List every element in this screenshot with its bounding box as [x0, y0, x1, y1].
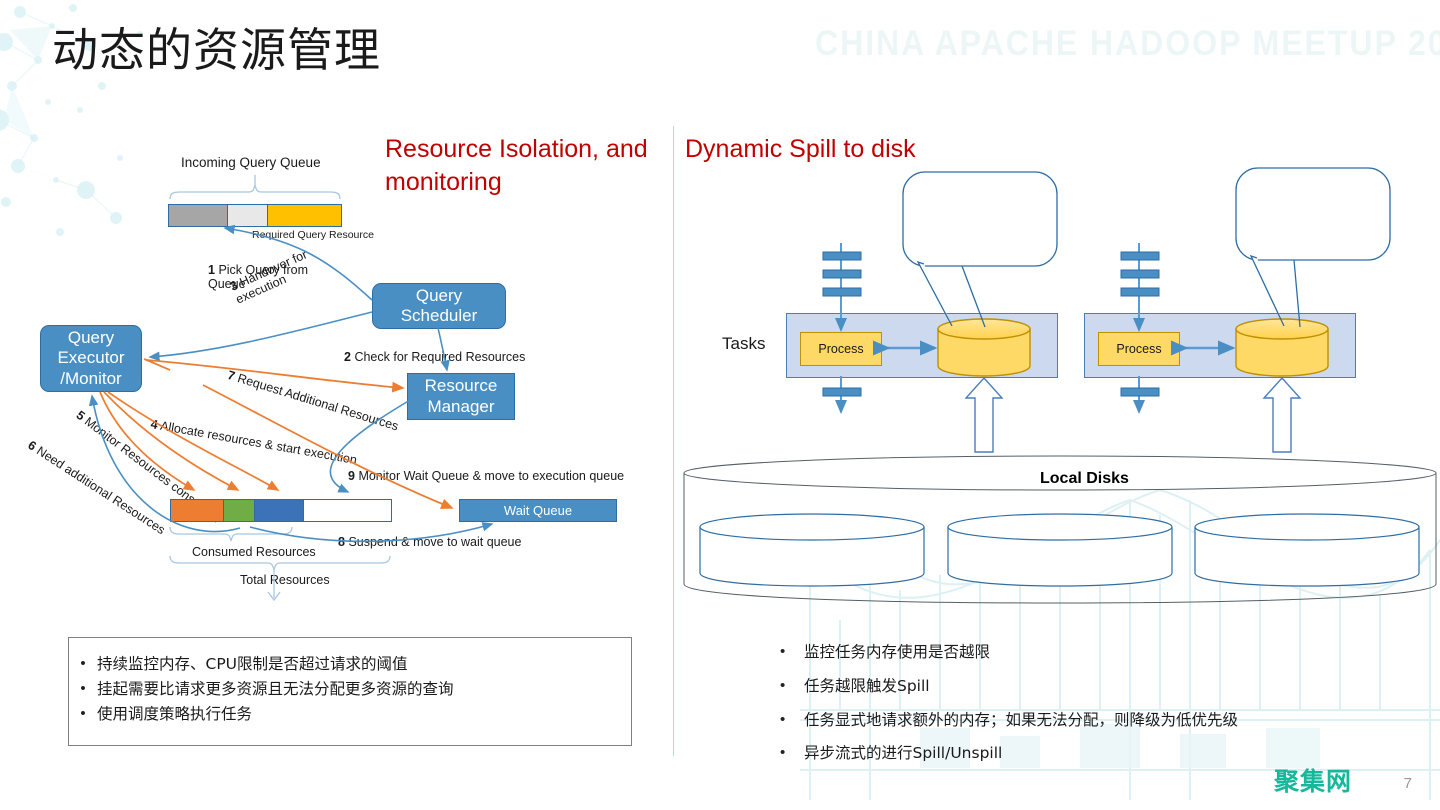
bullet-dot-icon: • [69, 677, 97, 701]
total-resources-label: Total Resources [240, 573, 330, 587]
bullet-dot-icon: • [69, 652, 97, 676]
node-query-scheduler-label: Query Scheduler [401, 286, 478, 326]
local-disk-3-page-spills-label: PageSpills [1211, 552, 1238, 579]
segment-res-green [224, 500, 255, 521]
node-resource-manager-label: Resource Manager [425, 376, 498, 416]
task-2-process-box[interactable]: Process [1098, 332, 1180, 366]
left-bullet-text: 使用调度策略执行任务 [97, 702, 252, 727]
task-1-process-box[interactable]: Process [800, 332, 882, 366]
local-disk-1-spill-blocks [771, 551, 905, 577]
segment-queued-a [169, 205, 228, 226]
segment-res-blue [255, 500, 304, 521]
step-9-number: 9 [348, 469, 355, 483]
step-4-label: 4 Allocate resources & start execution [150, 417, 358, 467]
right-bullet-text: 任务越限触发Spill [804, 674, 930, 699]
incoming-query-queue-bar [168, 204, 342, 227]
right-bullet-item: •监控任务内存使用是否越限 [780, 640, 1400, 665]
node-resource-manager[interactable]: Resource Manager [407, 373, 515, 420]
step-9-label: 9 Monitor Wait Queue & move to execution… [348, 469, 624, 483]
local-disk-2-spill-blocks [1019, 551, 1153, 577]
step-7-number: 7 [226, 368, 237, 383]
left-panel-heading: Resource Isolation, and monitoring [385, 133, 665, 198]
tasks-label: Tasks [722, 334, 765, 354]
segment-queued-b [228, 205, 268, 226]
consumed-resources-label: Consumed Resources [192, 545, 316, 559]
right-panel-heading: Dynamic Spill to disk [685, 133, 985, 166]
consumed-resources-brace [170, 527, 292, 541]
bullet-dot-icon: • [780, 674, 804, 698]
task-1-memory-label: Memory [957, 342, 1002, 356]
step-8-label: 8 Suspend & move to wait queue [338, 535, 521, 549]
local-disk-1-page-spills-label: PageSpills [716, 552, 743, 579]
bullet-dot-icon: • [780, 708, 804, 732]
bullet-dot-icon: • [780, 640, 804, 664]
node-wait-queue[interactable]: Wait Queue [459, 499, 617, 522]
site-logo-watermark: 聚集网 [1274, 762, 1352, 798]
left-bullet-item: •挂起需要比请求更多资源且无法分配更多资源的查询 [69, 677, 631, 702]
page-number: 7 [1404, 775, 1412, 792]
step-9-text: Monitor Wait Queue & move to execution q… [358, 469, 624, 483]
task-2-output-stream [1121, 376, 1159, 412]
node-query-executor-label: Query Executor /Monitor [57, 328, 124, 388]
page-title: 动态的资源管理 [52, 22, 381, 80]
task-1-process-label: Process [818, 342, 863, 356]
task-1-output-stream [823, 376, 861, 412]
task-2-memory-label: Memory [1255, 342, 1300, 356]
right-bullet-item: •任务显式地请求额外的内存；如果无法分配，则降级为低优先级 [780, 708, 1400, 733]
left-bullet-item: •持续监控内存、CPU限制是否超过请求的阈值 [69, 652, 631, 677]
node-wait-queue-label: Wait Queue [504, 503, 572, 518]
panel-divider [673, 126, 674, 756]
slide-canvas: CHINA APACHE HADOOP MEETUP 2022 动态的资源管理 … [0, 0, 1440, 810]
total-resources-bar [170, 499, 392, 522]
step-2-number: 2 [344, 350, 351, 364]
step-2-label: 2 Check for Required Resources [344, 350, 525, 364]
step-3-text: Handover for execution [234, 247, 310, 306]
left-bullet-text: 挂起需要比请求更多资源且无法分配更多资源的查询 [97, 677, 454, 702]
task-2-process-label: Process [1116, 342, 1161, 356]
step-8-text: Suspend & move to wait queue [348, 535, 521, 549]
right-bullet-text: 监控任务内存使用是否越限 [804, 640, 990, 665]
right-bullets-list: •监控任务内存使用是否越限•任务越限触发Spill•任务显式地请求额外的内存；如… [780, 640, 1400, 775]
local-disk-2-title: Local Disk [1027, 517, 1087, 532]
right-bullet-item: •任务越限触发Spill [780, 674, 1400, 699]
step-7-label: 7 Request Additional Resources [226, 368, 400, 433]
step-4-number: 4 [150, 417, 159, 432]
local-disk-1-title: Local Disk [779, 517, 839, 532]
required-query-resource-label: Required Query Resource [252, 229, 374, 241]
step-4-text: Allocate resources & start execution [159, 419, 358, 467]
left-bullets-box: •持续监控内存、CPU限制是否超过请求的阈值•挂起需要比请求更多资源且无法分配更… [68, 637, 632, 746]
step-8-number: 8 [338, 535, 345, 549]
task-2-callout-text: Continuously monitor memory consumption [1260, 189, 1378, 220]
node-query-scheduler[interactable]: Query Scheduler [372, 283, 506, 329]
task-1-callout-text: Continuously monitor memory consumption [925, 195, 1043, 226]
step-2-text: Check for Required Resources [354, 350, 525, 364]
step-1-number: 1 [208, 263, 215, 277]
left-bullets-list: •持续监控内存、CPU限制是否超过请求的阈值•挂起需要比请求更多资源且无法分配更… [69, 652, 631, 726]
task-1-spill-arrow [966, 378, 1002, 452]
bullet-dot-icon: • [780, 741, 804, 765]
incoming-queue-brace [170, 175, 340, 199]
right-bullet-text: 异步流式的进行Spill/Unspill [804, 741, 1002, 766]
left-bullet-item: •使用调度策略执行任务 [69, 702, 631, 727]
arrow-step-9-tail [144, 359, 170, 370]
bullet-dot-icon: • [69, 702, 97, 726]
segment-required [268, 205, 341, 226]
node-query-executor-monitor[interactable]: Query Executor /Monitor [40, 325, 142, 392]
right-bullet-text: 任务显式地请求额外的内存；如果无法分配，则降级为低优先级 [804, 708, 1238, 733]
local-disks-title: Local Disks [1040, 470, 1129, 488]
step-6-label: 6 Need additional Resources [25, 438, 167, 537]
left-bullet-text: 持续监控内存、CPU限制是否超过请求的阈值 [97, 652, 408, 677]
arrow-step-3 [150, 312, 372, 357]
conference-watermark-title: CHINA APACHE HADOOP MEETUP 2022 [815, 24, 1440, 64]
segment-res-orange [171, 500, 224, 521]
local-disk-3-spill-blocks [1266, 551, 1400, 577]
local-disk-3-title: Local Disk [1274, 517, 1334, 532]
segment-res-free [304, 500, 391, 521]
incoming-queue-label: Incoming Query Queue [181, 155, 321, 170]
step-7-text: Request Additional Resources [236, 371, 400, 433]
local-disk-2-page-spills-label: PageSpills [963, 552, 990, 579]
task-2-spill-arrow [1264, 378, 1300, 452]
